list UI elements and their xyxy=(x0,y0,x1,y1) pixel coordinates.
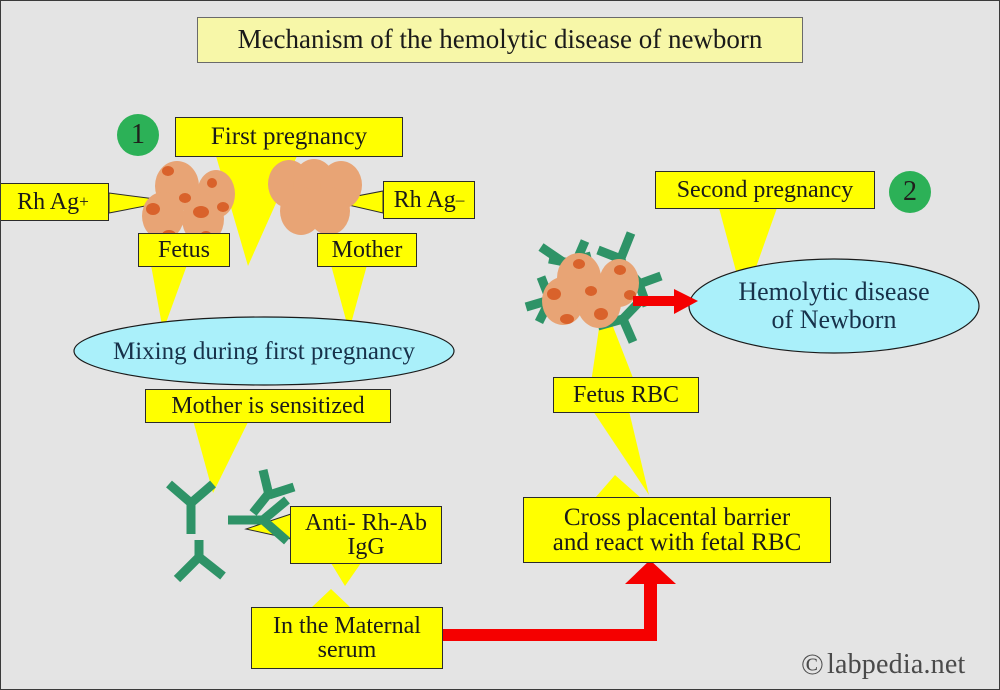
red-arrow-icon xyxy=(441,560,676,641)
ellipse-hemolytic-disease xyxy=(689,259,979,353)
rh-ag-negative-label: Rh Ag xyxy=(394,188,456,212)
tail-mother-sensitized xyxy=(193,420,249,493)
antibody-y-icon xyxy=(169,484,213,534)
tail-cross-placental-up xyxy=(595,475,641,498)
watermark-label: labpedia.net xyxy=(827,649,965,681)
antibody-y-icon xyxy=(177,540,223,579)
diagram-canvas: Mechanism of the hemolytic disease of ne… xyxy=(0,0,1000,690)
ellipse-mixing-first-pregnancy xyxy=(74,317,454,385)
tail-anti-rh-ab-down xyxy=(331,563,361,586)
callout-fetus: Fetus xyxy=(138,233,230,267)
callout-in-maternal-serum: In the Maternal serum xyxy=(251,607,443,669)
page-title: Mechanism of the hemolytic disease of ne… xyxy=(197,17,803,63)
rh-antigen-spot xyxy=(573,259,585,269)
rh-antigen-spot xyxy=(207,178,217,188)
red-blood-cell-icon xyxy=(308,187,350,235)
rh-antigen-spot xyxy=(560,314,574,324)
rh-antigen-spot xyxy=(547,288,561,300)
rh-antigen-spot xyxy=(614,265,626,275)
fetal-rbc-cluster-left xyxy=(142,161,235,244)
watermark: © labpedia.net xyxy=(801,649,965,681)
diagram-shapes xyxy=(1,1,1000,690)
rh-antigen-spot xyxy=(594,308,608,320)
rh-antigen-spot xyxy=(162,166,174,176)
callout-rh-ag-negative: Rh Ag– xyxy=(383,181,475,219)
callout-anti-rh-ab-igg: Anti- Rh-Ab IgG xyxy=(290,506,442,564)
tail-maternal-serum-up xyxy=(311,589,351,608)
step-badge-2: 2 xyxy=(889,171,931,213)
rh-antigen-spot xyxy=(217,202,229,212)
callout-fetus-rbc: Fetus RBC xyxy=(553,377,699,413)
callout-first-pregnancy: First pregnancy xyxy=(175,117,403,157)
rh-antigen-spot xyxy=(193,206,209,218)
rh-antigen-spot xyxy=(179,193,191,203)
mother-rbc-cluster xyxy=(268,159,362,235)
callout-rh-ag-positive: Rh Ag+ xyxy=(0,183,109,221)
rh-ag-positive-label: Rh Ag xyxy=(17,190,79,214)
callout-mother: Mother xyxy=(317,233,417,267)
step-badge-1: 1 xyxy=(117,114,159,156)
callout-mother-sensitized: Mother is sensitized xyxy=(145,389,391,423)
rh-antigen-spot xyxy=(585,286,597,296)
callout-cross-placental-barrier: Cross placental barrier and react with f… xyxy=(523,497,831,563)
red-blood-cell-icon xyxy=(577,278,621,328)
rh-antigen-spot xyxy=(146,203,160,215)
copyright-icon: © xyxy=(801,650,824,680)
callout-second-pregnancy: Second pregnancy xyxy=(655,171,875,209)
